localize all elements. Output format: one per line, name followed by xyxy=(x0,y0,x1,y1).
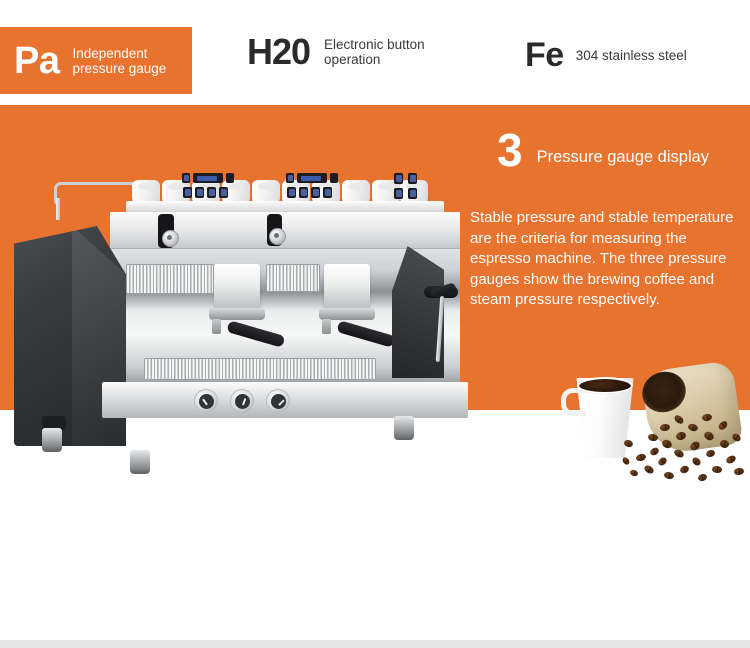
control-button[interactable] xyxy=(182,173,190,183)
steam-knob-mid[interactable] xyxy=(269,228,286,245)
spec-header: Pa Independent pressure gauge H20 Electr… xyxy=(0,0,750,105)
digital-display xyxy=(193,173,223,183)
drip-grill-mid xyxy=(266,264,320,292)
pressure-gauge-3 xyxy=(266,389,290,413)
spec-item-h20: H20 Electronic button operation xyxy=(247,34,425,70)
coffee-bean xyxy=(719,439,730,449)
steam-knob-left[interactable] xyxy=(162,230,179,247)
control-button[interactable] xyxy=(394,188,403,199)
coffee-bean xyxy=(675,431,687,442)
handrail-post-left xyxy=(56,198,60,220)
coffee-product-imagery xyxy=(556,358,750,506)
control-button[interactable] xyxy=(195,187,204,198)
coffee-bean xyxy=(703,430,716,442)
coffee-bean xyxy=(725,454,737,465)
mug-rim xyxy=(577,377,633,394)
mug-handle xyxy=(561,388,586,416)
spec-label-fe: 304 stainless steel xyxy=(576,48,687,63)
control-button[interactable] xyxy=(287,187,296,198)
machine-base-panel xyxy=(102,382,468,418)
coffee-bean xyxy=(673,414,685,426)
drip-grill-left xyxy=(126,264,214,294)
product-feature-banner: Pa Independent pressure gauge H20 Electr… xyxy=(0,0,750,648)
coffee-bean xyxy=(643,464,655,475)
machine-foot-left xyxy=(130,450,150,474)
coffee-bean xyxy=(661,438,673,449)
control-button[interactable] xyxy=(219,187,228,198)
coffee-bean xyxy=(635,453,646,462)
spec-label-pa-line1: Independent xyxy=(72,46,147,61)
spec-item-pa: Pa Independent pressure gauge xyxy=(0,27,192,94)
feature-heading: 3 Pressure gauge display xyxy=(497,131,709,169)
group-head-2[interactable] xyxy=(324,264,370,310)
pressure-gauge-2 xyxy=(230,389,254,413)
feature-description: Stable pressure and stable temperature a… xyxy=(470,208,748,311)
espresso-machine-image xyxy=(14,168,474,508)
spec-label-h20: Electronic button operation xyxy=(324,37,425,67)
pressure-gauge-1 xyxy=(194,389,218,413)
gauge-needle xyxy=(278,399,284,405)
coffee-beans-pile xyxy=(620,410,746,482)
control-button[interactable] xyxy=(408,188,417,199)
coffee-bean xyxy=(705,449,716,459)
spec-symbol-fe: Fe xyxy=(525,38,564,72)
feature-title: Pressure gauge display xyxy=(537,148,709,166)
control-button[interactable] xyxy=(323,187,332,198)
control-button[interactable] xyxy=(207,187,216,198)
control-button[interactable] xyxy=(394,173,403,184)
control-button[interactable] xyxy=(330,173,338,183)
drip-tray-grill xyxy=(144,358,376,380)
control-button[interactable] xyxy=(183,187,192,198)
spec-label-pa: Independent pressure gauge xyxy=(72,46,166,76)
coffee-bean xyxy=(717,420,729,432)
coffee-bean xyxy=(691,456,702,467)
machine-foot-front-left xyxy=(42,428,62,452)
coffee-bean xyxy=(629,469,639,478)
spec-symbol-pa: Pa xyxy=(14,42,59,80)
coffee-bean xyxy=(673,448,685,459)
feature-number: 3 xyxy=(497,131,523,169)
control-button[interactable] xyxy=(286,173,294,183)
coffee-bean xyxy=(701,413,712,422)
gauge-face xyxy=(235,394,250,409)
coffee-bean xyxy=(679,464,690,474)
control-button[interactable] xyxy=(226,173,234,183)
machine-foot-right xyxy=(394,416,414,440)
spec-label-h20-line1: Electronic button xyxy=(324,37,425,52)
gauge-needle xyxy=(202,398,207,405)
portafilter-spout-1 xyxy=(212,319,221,334)
coffee-bean xyxy=(712,465,723,473)
coffee-bean xyxy=(687,423,699,432)
gauge-needle xyxy=(242,398,246,405)
gauge-face xyxy=(199,394,214,409)
coffee-bean xyxy=(663,471,674,480)
bottom-divider xyxy=(0,640,750,648)
coffee-bean xyxy=(697,473,708,482)
coffee-bean xyxy=(731,432,742,443)
control-button[interactable] xyxy=(408,173,417,184)
coffee-bean xyxy=(734,467,745,475)
group-head-1[interactable] xyxy=(214,264,260,310)
spec-item-fe: Fe 304 stainless steel xyxy=(525,38,687,72)
coffee-bean xyxy=(623,439,634,449)
coffee-bean xyxy=(649,446,660,457)
control-button[interactable] xyxy=(299,187,308,198)
spec-label-pa-line2: pressure gauge xyxy=(72,61,166,76)
spec-symbol-h20: H20 xyxy=(247,34,310,70)
coffee-bean xyxy=(648,433,659,441)
digital-display xyxy=(297,173,327,183)
coffee-bean xyxy=(657,456,668,467)
spec-label-h20-line2: operation xyxy=(324,52,380,67)
control-button[interactable] xyxy=(311,187,320,198)
coffee-bean xyxy=(689,440,702,452)
coffee-bean xyxy=(660,423,671,431)
coffee-bean xyxy=(621,456,631,466)
gauge-face xyxy=(271,394,286,409)
portafilter-spout-2 xyxy=(322,319,331,334)
